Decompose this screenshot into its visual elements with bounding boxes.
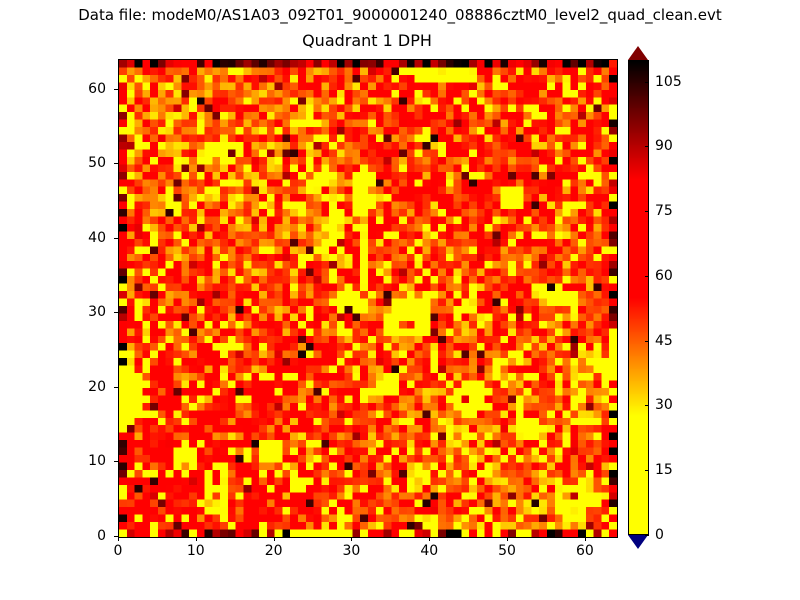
colorbar-tick-mark	[645, 470, 649, 471]
data-file-caption: Data file: modeM0/AS1A03_092T01_90000012…	[0, 5, 800, 25]
x-tick-label: 0	[88, 543, 148, 559]
x-tick-label: 10	[166, 543, 226, 559]
y-tick-mark	[114, 89, 118, 90]
x-tick-mark	[196, 537, 197, 541]
heatmap-axes[interactable]	[118, 59, 618, 538]
colorbar-tick-mark	[645, 535, 649, 536]
y-tick-label: 40	[56, 230, 106, 246]
colorbar-gradient[interactable]	[628, 60, 649, 535]
colorbar-over-arrow-icon	[628, 46, 648, 60]
colorbar-tick-mark	[645, 146, 649, 147]
plot-title: Quadrant 1 DPH	[118, 31, 616, 51]
colorbar-tick-mark	[645, 211, 649, 212]
x-tick-label: 20	[244, 543, 304, 559]
colorbar-tick-mark	[645, 341, 649, 342]
x-tick-mark	[585, 537, 586, 541]
y-tick-label: 0	[56, 528, 106, 544]
x-tick-mark	[351, 537, 352, 541]
y-tick-mark	[114, 238, 118, 239]
x-tick-label: 40	[399, 543, 459, 559]
colorbar-tick-label: 90	[655, 138, 673, 154]
x-tick-label: 30	[321, 543, 381, 559]
colorbar-tick-mark	[645, 82, 649, 83]
y-tick-mark	[114, 312, 118, 313]
x-tick-label: 50	[477, 543, 537, 559]
colorbar-tick-mark	[645, 405, 649, 406]
y-tick-mark	[114, 387, 118, 388]
colorbar-canvas	[629, 61, 648, 534]
colorbar-tick-label: 75	[655, 203, 673, 219]
figure-canvas: Data file: modeM0/AS1A03_092T01_90000012…	[0, 0, 800, 600]
colorbar-tick-mark	[645, 276, 649, 277]
colorbar-tick-label: 0	[655, 527, 664, 543]
colorbar-tick-label: 105	[655, 74, 682, 90]
heatmap-image[interactable]	[119, 60, 617, 537]
x-tick-mark	[274, 537, 275, 541]
y-tick-mark	[114, 461, 118, 462]
colorbar-under-arrow-icon	[628, 535, 648, 549]
y-tick-label: 20	[56, 379, 106, 395]
x-tick-mark	[118, 537, 119, 541]
y-tick-label: 10	[56, 453, 106, 469]
x-tick-mark	[429, 537, 430, 541]
colorbar-tick-label: 30	[655, 397, 673, 413]
colorbar[interactable]	[628, 60, 649, 535]
colorbar-tick-label: 15	[655, 462, 673, 478]
x-tick-mark	[507, 537, 508, 541]
y-tick-label: 50	[56, 155, 106, 171]
x-tick-label: 60	[555, 543, 615, 559]
y-tick-mark	[114, 163, 118, 164]
y-tick-label: 60	[56, 81, 106, 97]
y-tick-mark	[114, 536, 118, 537]
colorbar-tick-label: 45	[655, 333, 673, 349]
colorbar-tick-label: 60	[655, 268, 673, 284]
y-tick-label: 30	[56, 304, 106, 320]
